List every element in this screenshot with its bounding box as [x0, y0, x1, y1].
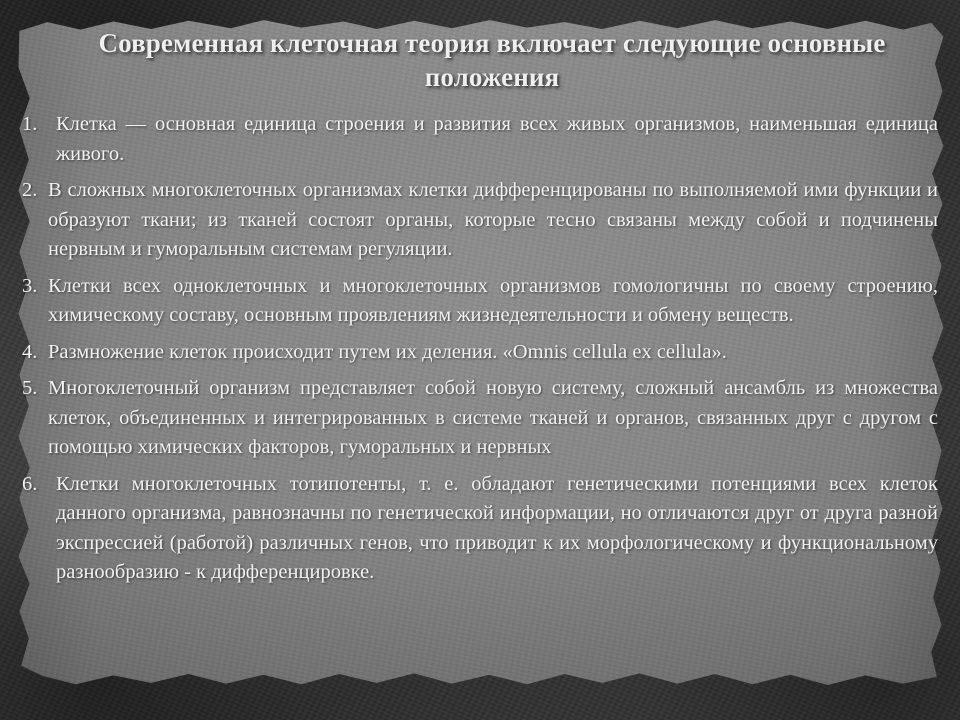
list-item-number: 5.: [22, 374, 48, 404]
list-item: 6. Клетки многоклеточных тотипотенты, т.…: [22, 470, 938, 588]
slide-title: Современная клеточная теория включает сл…: [72, 26, 912, 94]
list-item-number: 3.: [22, 272, 48, 302]
slide-content: Современная клеточная теория включает сл…: [0, 0, 960, 720]
list-item-number: 2.: [22, 176, 48, 206]
list-item: 5. Многоклеточный организм представляет …: [22, 374, 938, 463]
list-item-text: Многоклеточный организм представляет соб…: [48, 377, 938, 458]
list-item: 2. В сложных многоклеточных организмах к…: [22, 176, 938, 265]
list-item-number: 1.: [22, 110, 56, 140]
list-item-number: 6.: [22, 470, 56, 500]
list-item-text: Клетки многоклеточных тотипотенты, т. е.…: [56, 473, 938, 584]
bullet-list: 1. Клетка — основная единица строения и …: [22, 110, 938, 595]
list-item-text: Клетка — основная единица строения и раз…: [56, 113, 938, 165]
presentation-slide: Современная клеточная теория включает сл…: [0, 0, 960, 720]
list-item: 4. Размножение клеток происходит путем и…: [22, 338, 938, 368]
list-item-number: 4.: [22, 338, 48, 368]
list-item: 3. Клетки всех одноклеточных и многоклет…: [22, 272, 938, 331]
list-item: 1. Клетка — основная единица строения и …: [22, 110, 938, 169]
list-item-text: Клетки всех одноклеточных и многоклеточн…: [48, 275, 938, 327]
list-item-text: В сложных многоклеточных организмах клет…: [48, 179, 938, 260]
list-item-text: Размножение клеток происходит путем их д…: [48, 341, 727, 363]
